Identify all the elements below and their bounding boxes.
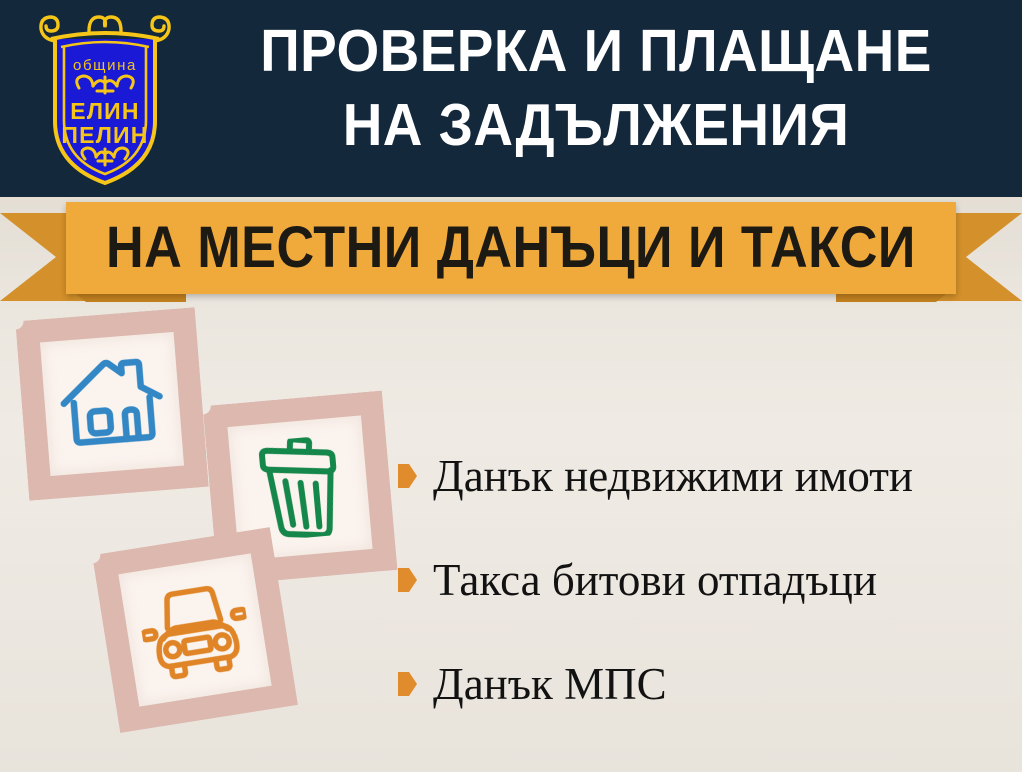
- municipality-crest-logo: община ЕЛИН ПЕЛИН: [31, 9, 179, 189]
- trash-bin-icon: [252, 434, 348, 541]
- tax-type-list: Данък недвижими имоти Такса битови отпад…: [398, 424, 1008, 736]
- poster-root: община ЕЛИН ПЕЛИН: [0, 0, 1022, 772]
- arrow-bullet-icon: [398, 672, 417, 696]
- title-line-2: НА ЗАДЪЛЖЕНИЯ: [215, 88, 978, 162]
- stamp-card-car: [92, 527, 298, 733]
- list-item[interactable]: Такса битови отпадъци: [398, 528, 1008, 632]
- title-line-1: ПРОВЕРКА И ПЛАЩАНЕ: [215, 14, 978, 88]
- house-icon: [56, 352, 167, 456]
- car-icon: [135, 576, 254, 683]
- svg-text:ЕЛИН: ЕЛИН: [70, 98, 139, 124]
- list-item[interactable]: Данък МПС: [398, 632, 1008, 736]
- ribbon-label: НА МЕСТНИ ДАНЪЦИ И ТАКСИ: [106, 219, 916, 277]
- ribbon-band: НА МЕСТНИ ДАНЪЦИ И ТАКСИ: [66, 202, 956, 294]
- list-item[interactable]: Данък недвижими имоти: [398, 424, 1008, 528]
- stamp-face-car: [118, 553, 271, 706]
- stamp-face-house: [40, 332, 184, 476]
- list-item-label: Данък МПС: [433, 659, 667, 709]
- list-item-label: Такса битови отпадъци: [433, 555, 877, 605]
- arrow-bullet-icon: [398, 464, 417, 488]
- list-item-label: Данък недвижими имоти: [433, 451, 913, 501]
- subtitle-ribbon: НА МЕСТНИ ДАНЪЦИ И ТАКСИ: [0, 196, 1022, 304]
- arrow-bullet-icon: [398, 568, 417, 592]
- poster-title: ПРОВЕРКА И ПЛАЩАНЕ НА ЗАДЪЛЖЕНИЯ: [186, 14, 1006, 162]
- header-bar: община ЕЛИН ПЕЛИН: [0, 0, 1022, 197]
- crest-icon: община ЕЛИН ПЕЛИН: [31, 9, 179, 189]
- svg-text:община: община: [73, 57, 137, 74]
- svg-text:ПЕЛИН: ПЕЛИН: [61, 122, 148, 148]
- stamp-card-house: [15, 307, 209, 501]
